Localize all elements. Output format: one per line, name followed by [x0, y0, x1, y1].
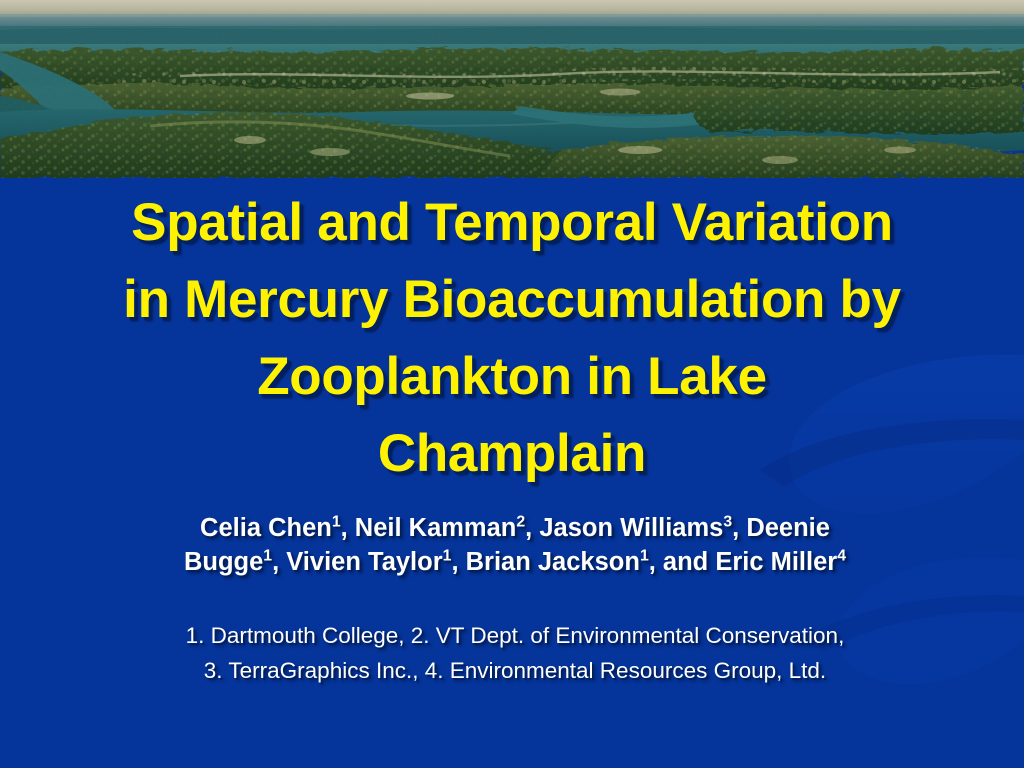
affiliation-superscript: 1 — [263, 548, 272, 565]
title-line-4: Champlain — [18, 415, 1006, 492]
title-line-2: in Mercury Bioaccumulation by — [18, 261, 1006, 338]
affiliation-superscript: 1 — [443, 548, 452, 565]
author-list: Celia Chen1, Neil Kamman2, Jason William… — [110, 511, 920, 579]
title-slide: Spatial and Temporal Variation in Mercur… — [0, 0, 1024, 768]
author-line-1: Celia Chen1, Neil Kamman2, Jason William… — [110, 511, 920, 545]
title-line-3: Zooplankton in Lake — [18, 338, 1006, 415]
affiliation-superscript: 2 — [516, 514, 525, 531]
affiliation-line-1: 1. Dartmouth College, 2. VT Dept. of Env… — [80, 618, 950, 653]
page-title: Spatial and Temporal Variation in Mercur… — [18, 184, 1006, 492]
affiliation-superscript: 4 — [837, 548, 846, 565]
header-photo-lake-champlain — [0, 0, 1024, 178]
affiliation-superscript: 1 — [640, 548, 649, 565]
title-line-1: Spatial and Temporal Variation — [18, 184, 1006, 261]
author-line-2: Bugge1, Vivien Taylor1, Brian Jackson1, … — [110, 545, 920, 579]
affiliation-superscript: 1 — [332, 514, 341, 531]
affiliation-superscript: 3 — [723, 514, 732, 531]
affiliation-line-2: 3. TerraGraphics Inc., 4. Environmental … — [80, 653, 950, 688]
affiliation-list: 1. Dartmouth College, 2. VT Dept. of Env… — [80, 618, 950, 688]
slide-content: Spatial and Temporal Variation in Mercur… — [0, 178, 1024, 768]
